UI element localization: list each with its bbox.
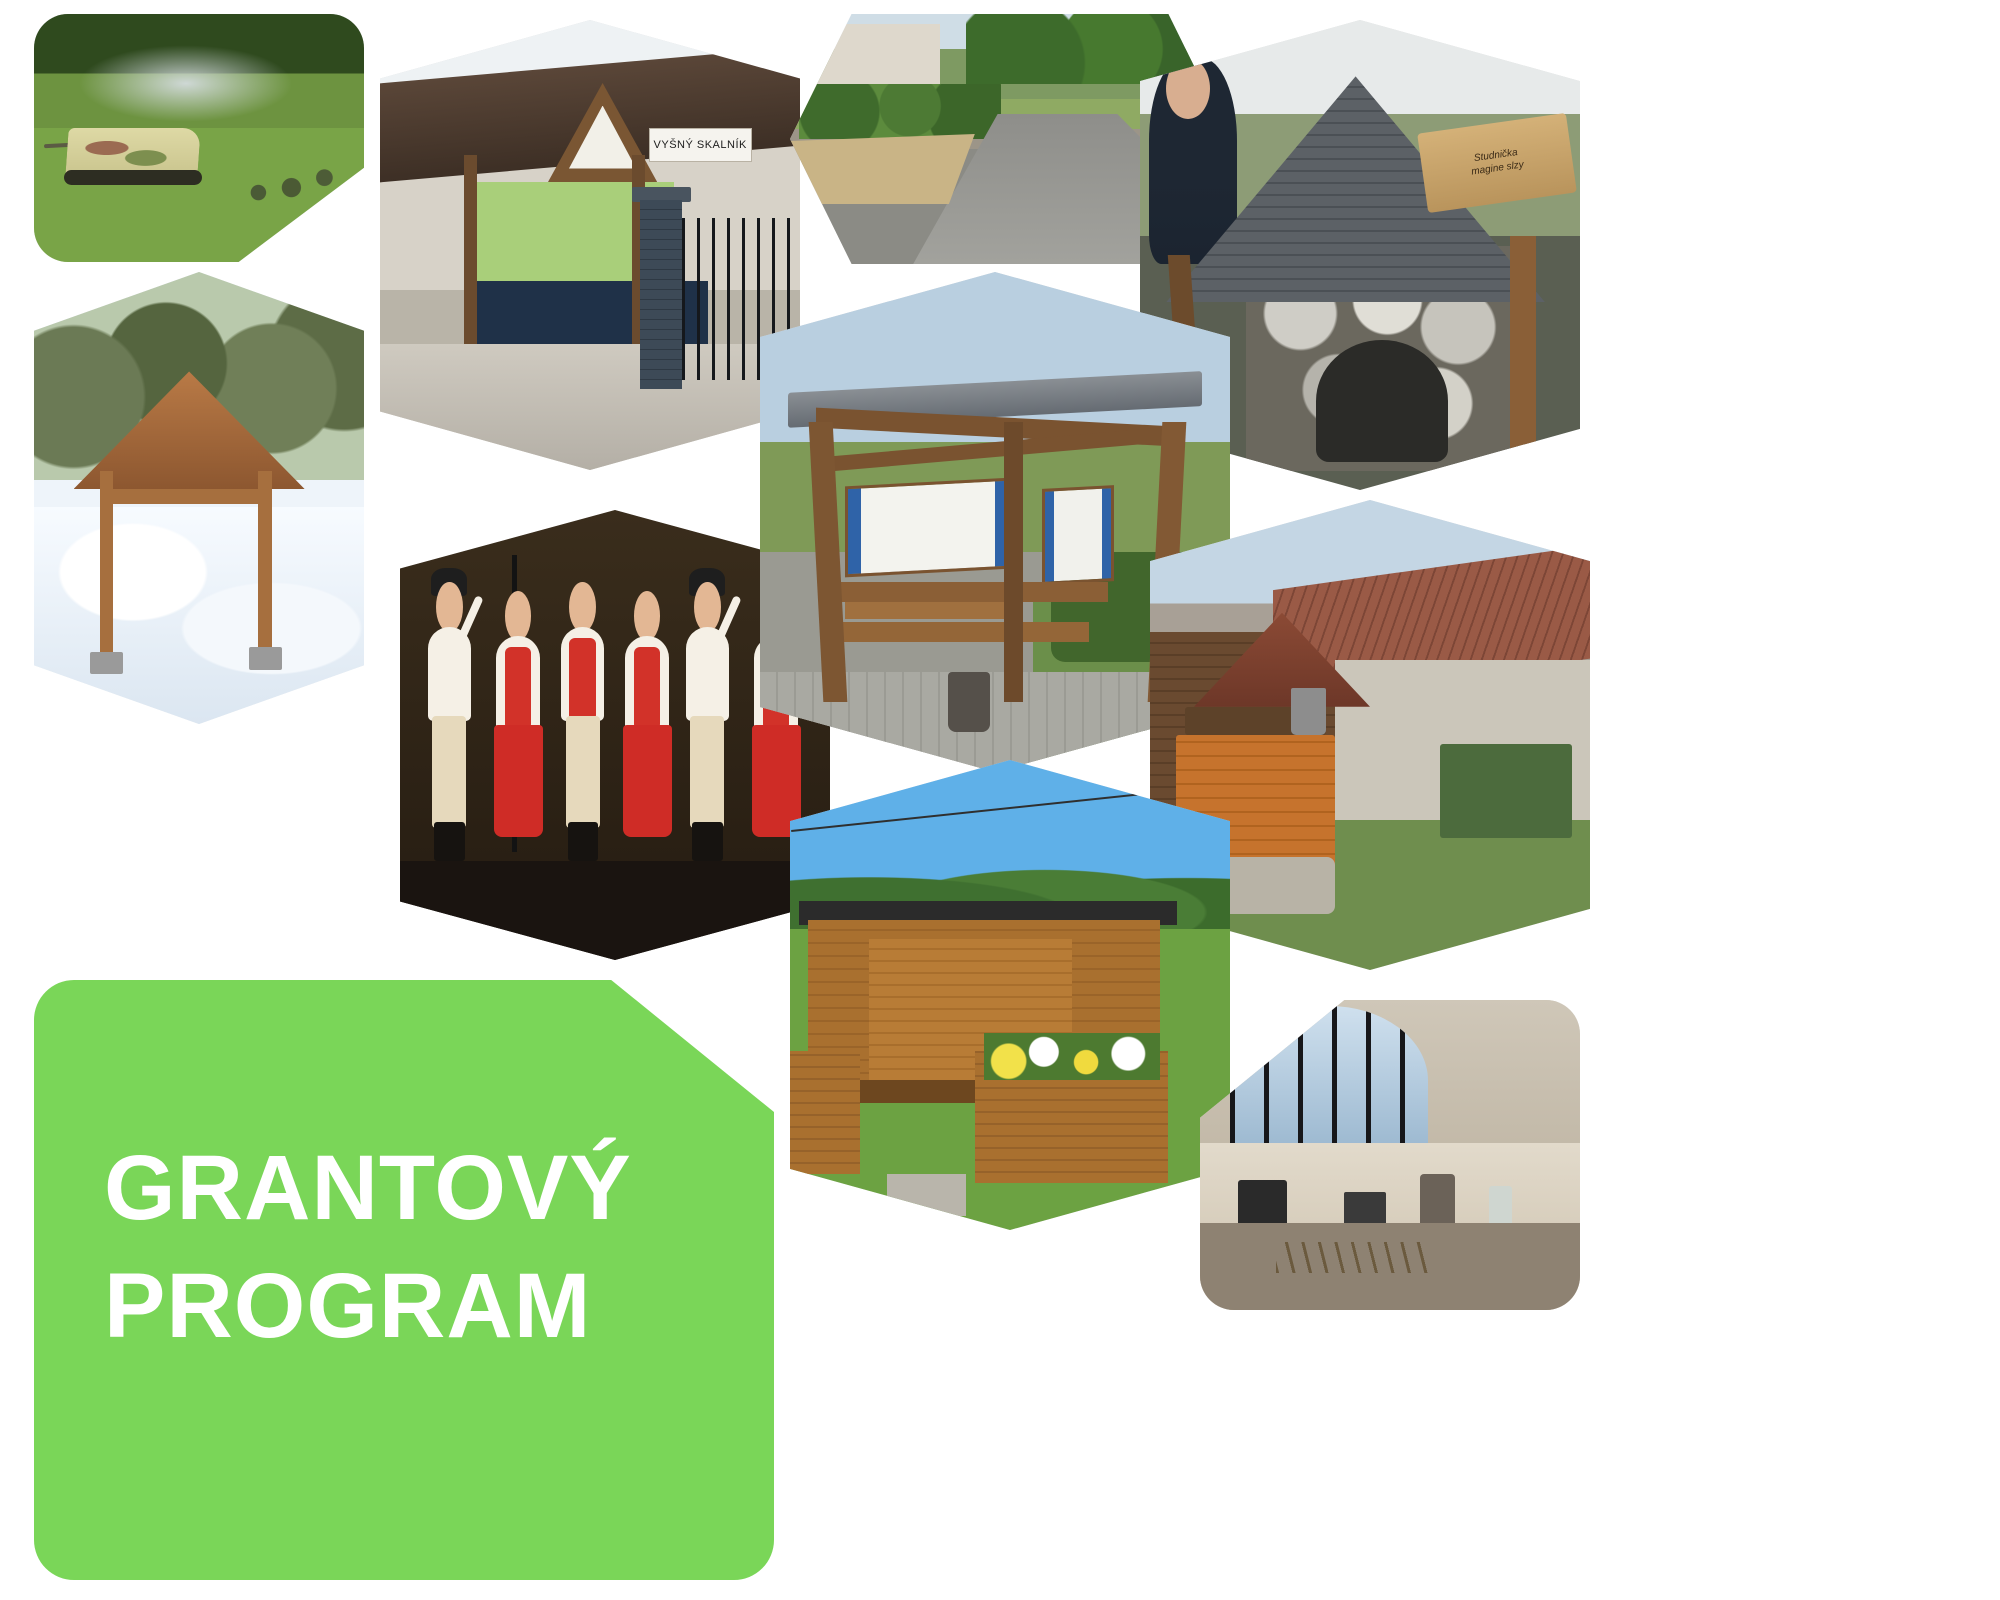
dancer-head [634, 591, 660, 641]
dancer-head [505, 591, 531, 641]
dancer-head [436, 582, 462, 632]
dancer-figure [684, 582, 731, 861]
well-bucket [1291, 688, 1326, 735]
building-name-sign: VYŠNÝ SKALNÍK [649, 128, 752, 162]
dancer-figure [426, 582, 473, 861]
dancer-skirt [623, 725, 672, 837]
wooden-hut-photo [790, 760, 1230, 1230]
information-board-side [1042, 485, 1114, 585]
snow-ground [34, 507, 364, 724]
roof-beam-right [1510, 236, 1536, 462]
poster-canvas: VYŠNÝ SKALNÍK Studnička [0, 0, 2000, 1600]
shelter-base-left [90, 652, 123, 675]
dancer-shirt [686, 627, 730, 722]
building-name-sign-label: VYŠNÝ SKALNÍK [654, 139, 747, 151]
dancer-trousers [432, 716, 466, 828]
shelter-base-right [249, 647, 282, 670]
spring-name-sign: Studnička magine slzy [1417, 113, 1576, 213]
dancer-vest [569, 638, 595, 722]
dancer-boots [434, 822, 464, 861]
stone-slab-path [887, 1174, 966, 1216]
winter-shelter-photo [34, 272, 364, 724]
photo-tile-tank-reenactment [34, 14, 364, 262]
shelter-post-right [258, 471, 271, 661]
photo-tile-winter-shelter [34, 272, 364, 724]
planter-flowers [984, 1033, 1160, 1080]
dancer-vest [634, 647, 660, 731]
photo-tile-municipal-building: VYŠNÝ SKALNÍK [380, 20, 800, 470]
tank-photo [34, 14, 364, 262]
window-iron-bars [1230, 1006, 1428, 1155]
shelter-tie-beam [100, 489, 272, 504]
dancer-vest [505, 647, 531, 731]
dancer-figure [559, 582, 606, 861]
roadside-hedge [799, 84, 1001, 139]
shelter-post-middle [1004, 422, 1023, 702]
municipal-building-photo: VYŠNÝ SKALNÍK [380, 20, 800, 470]
workshop-window-photo [1200, 1000, 1580, 1310]
photo-tile-wooden-hut [790, 760, 1230, 1230]
dancer-trousers [566, 716, 600, 828]
dancer-skirt [752, 725, 801, 837]
gate-pillar [640, 200, 682, 389]
dancer-head [694, 582, 720, 632]
stage-floor [400, 861, 830, 960]
flower-planter-pot [948, 672, 990, 732]
dancer-figure [495, 591, 542, 870]
bench-backrest [835, 582, 1108, 602]
page-title: GRANTOVÝ PROGRAM [104, 1130, 724, 1366]
dancer-figure [624, 591, 671, 870]
bench-seat [835, 622, 1089, 642]
garden-bench-seat [1440, 763, 1572, 838]
picnic-table [845, 602, 1005, 619]
dancer-head [569, 582, 595, 632]
planter-left [790, 1051, 860, 1173]
dancer-skirt [494, 725, 543, 837]
information-board-main [845, 478, 1011, 578]
dancer-boots [568, 822, 598, 861]
spring-opening [1316, 340, 1448, 462]
hand-tools-row [1276, 1242, 1428, 1273]
photo-tile-workshop-window [1200, 1000, 1580, 1310]
roadside-soil-strip [790, 134, 975, 204]
shelter-post-left [100, 471, 113, 661]
dancer-boots [692, 822, 722, 861]
dancer-trousers [690, 716, 724, 828]
tank-track-shape [64, 170, 203, 185]
dancer-shirt [428, 627, 472, 722]
